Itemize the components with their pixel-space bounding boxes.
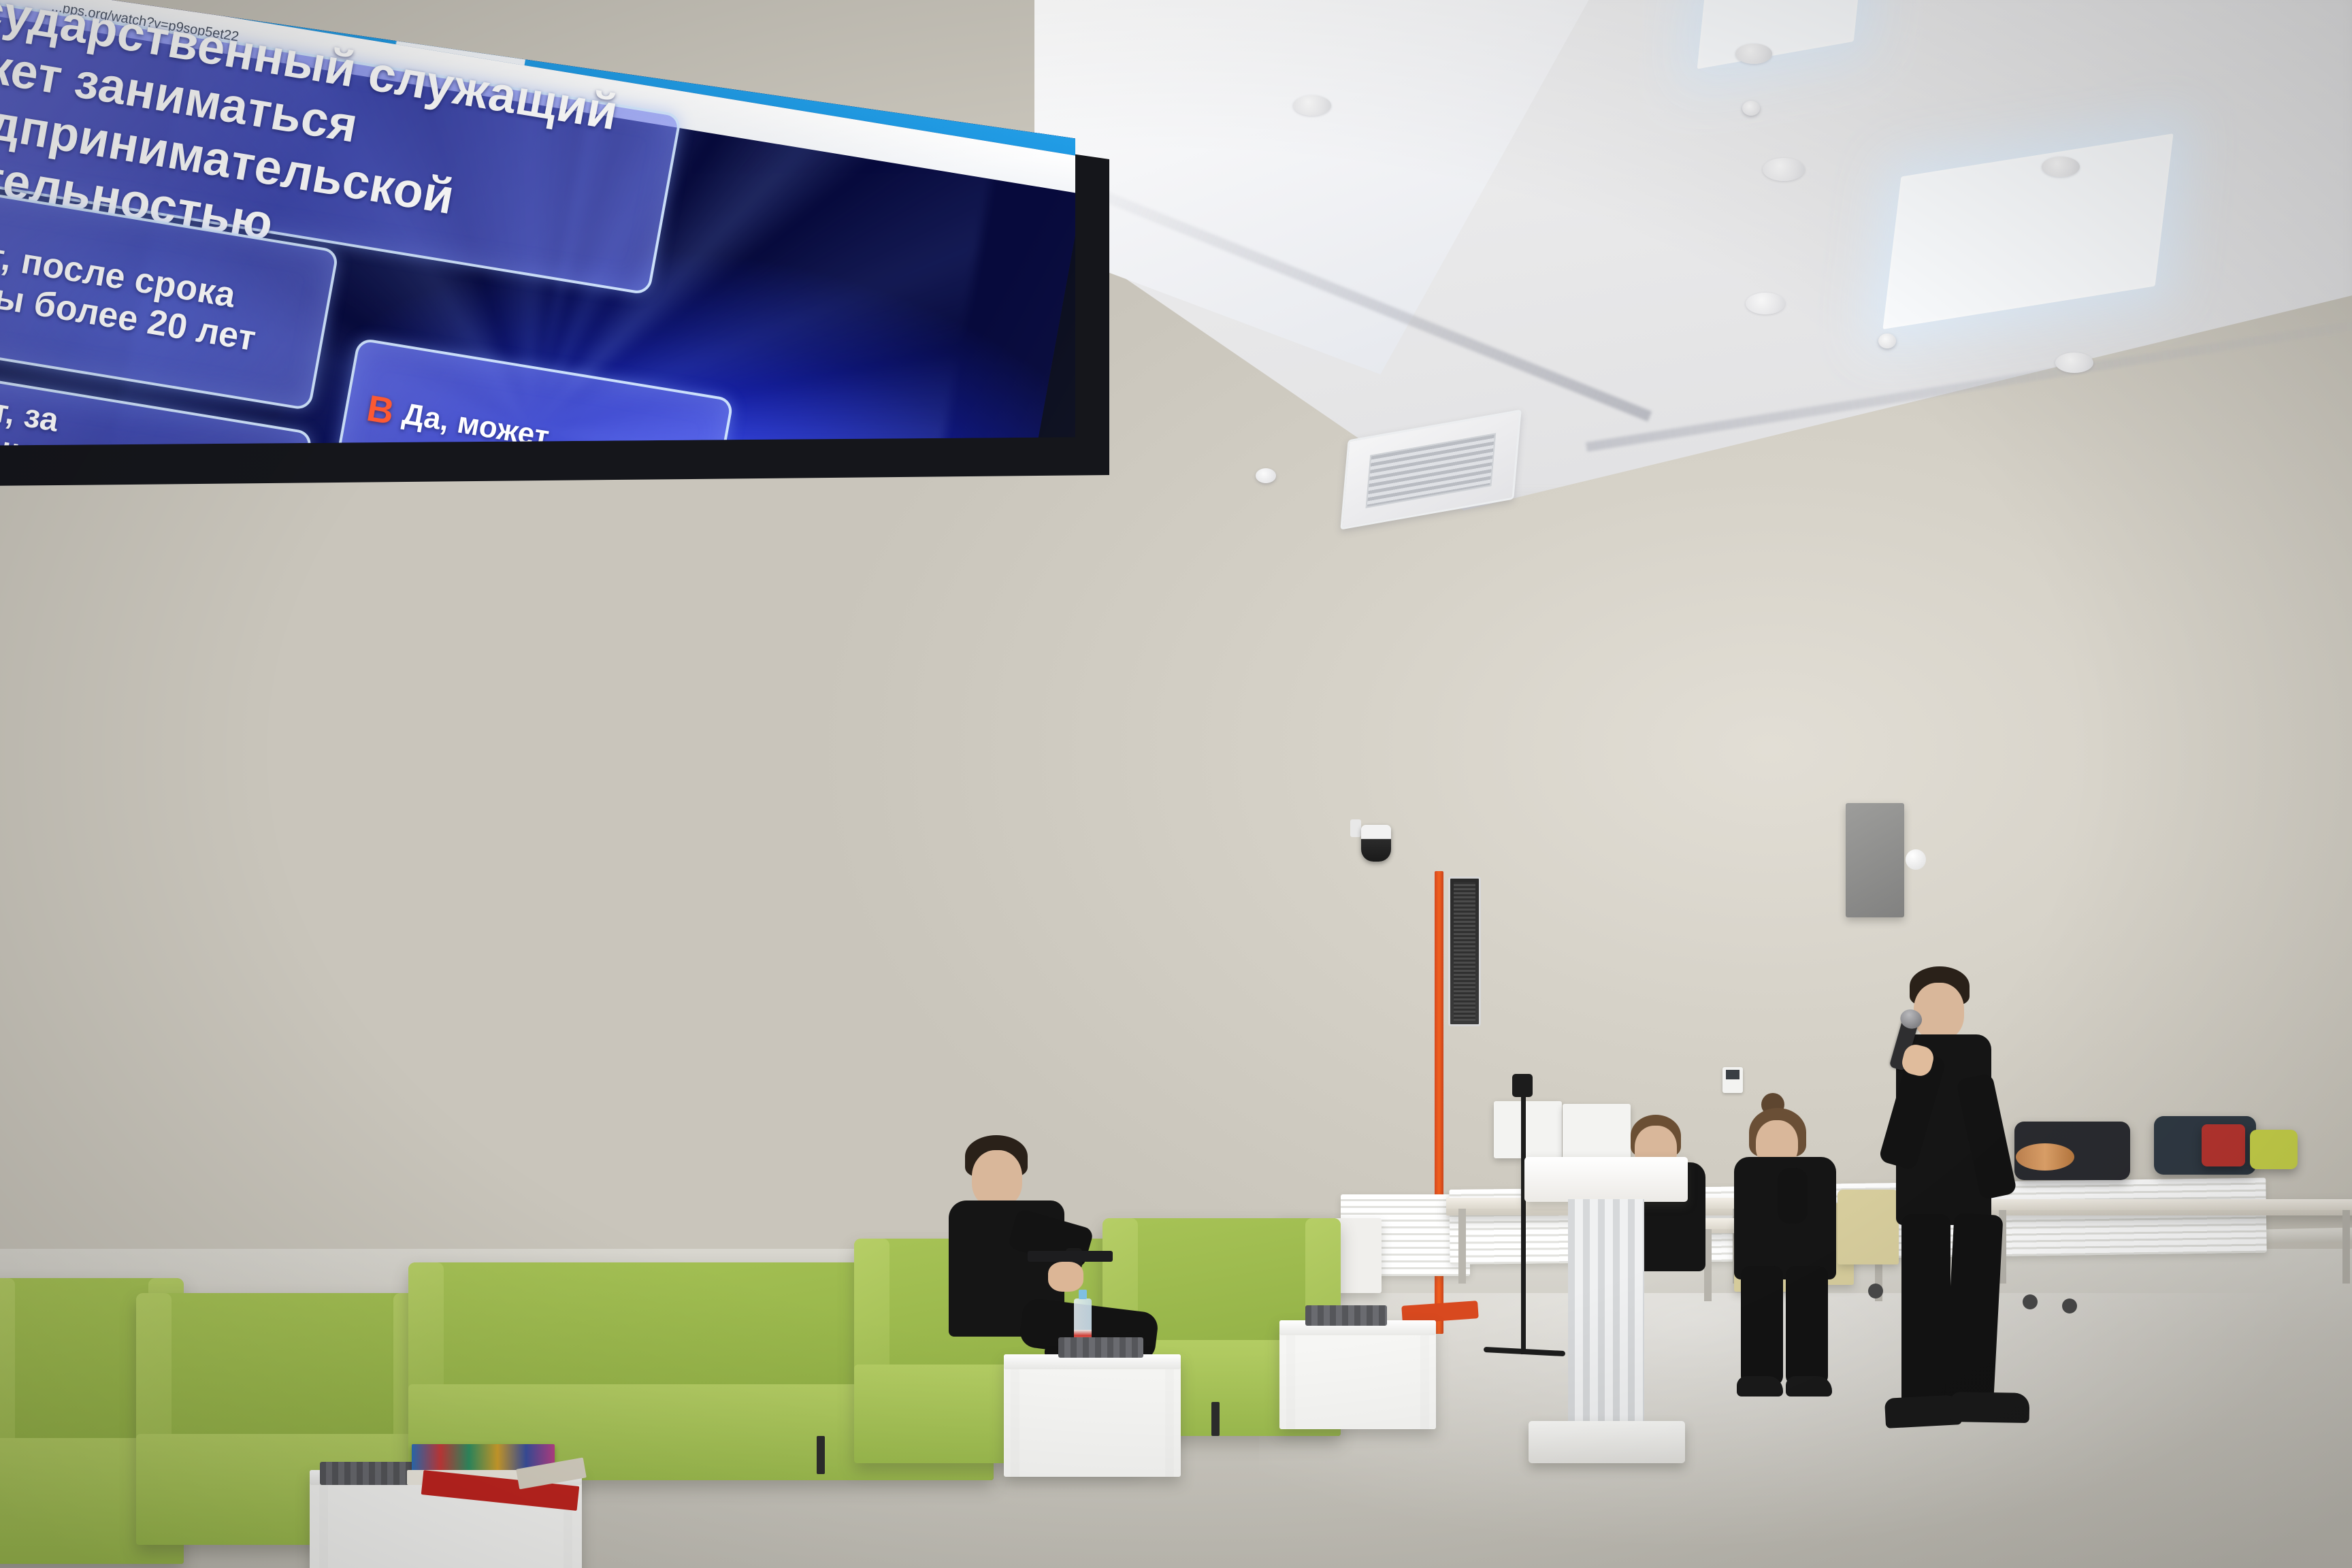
red-bag — [2202, 1124, 2245, 1166]
table-leg — [1286, 1335, 1295, 1429]
tab-close-icon[interactable]: × — [512, 36, 521, 50]
taskbar-clock[interactable]: 13:27 04.02.2022 — [1002, 1002, 1047, 1022]
security-camera-icon — [1361, 825, 1391, 862]
leg-left — [1901, 1214, 1950, 1411]
thermostat[interactable] — [1722, 1067, 1743, 1093]
option-text-d: Нет, не может — [365, 551, 572, 617]
tab-title: Новая вкладка — [425, 22, 508, 48]
taskbar-word-icon[interactable]: W — [33, 967, 69, 1003]
leg — [1741, 1266, 1783, 1386]
leg-right — [1944, 1213, 2003, 1412]
podium-top — [1524, 1157, 1688, 1202]
monitor — [1494, 1101, 1562, 1158]
tray-settings-icon[interactable]: ⚙ — [886, 1002, 897, 1015]
system-tray: ︿ ⚙ 🗔 🔊 🖥 РУС 13:27 04.02.2022 — [866, 998, 1047, 1022]
answer-option-b[interactable]: B Да, может — [333, 338, 734, 533]
foam-pad — [1058, 1337, 1143, 1358]
ceiling-spot-icon — [1746, 293, 1785, 314]
arm — [1778, 1168, 1808, 1224]
ceiling-spot-icon — [2042, 157, 2080, 177]
head — [972, 1150, 1022, 1207]
desk-leg — [2342, 1210, 2350, 1284]
smoke-detector-icon — [1878, 333, 1896, 348]
table-leg — [319, 1485, 328, 1568]
table-leg — [1165, 1369, 1174, 1477]
back-desk-3 — [1984, 1199, 2352, 1215]
windows-taskbar: 🗀 X W ▭ ⬤ P ︿ ⚙ 🗔 🔊 🖥 РУС 13:27 04.02.20… — [0, 954, 1075, 1034]
hand — [1048, 1262, 1083, 1292]
option-letter-b: B — [363, 387, 397, 433]
taskbar-app-icon[interactable]: ⬤ — [176, 971, 212, 1007]
leg — [1786, 1266, 1828, 1386]
camera-mount — [1350, 819, 1361, 837]
yellow-bag — [2250, 1130, 2298, 1169]
shoe-right — [1950, 1392, 2030, 1423]
option-letter-d: D — [329, 542, 363, 587]
tab-close-icon[interactable]: × — [383, 15, 392, 29]
tray-display-icon[interactable]: 🖥 — [948, 1003, 963, 1017]
desk-leg — [1458, 1209, 1466, 1284]
side-table-right — [1279, 1320, 1436, 1429]
taskbar-excel-icon[interactable]: X — [0, 966, 22, 1002]
mouse-cursor-icon — [380, 491, 390, 505]
podium-base — [1529, 1421, 1685, 1463]
tab-title: Внутренняя служба - — [116, 0, 224, 2]
remote-on-armrest[interactable] — [1028, 1251, 1113, 1262]
tab-title: Тимуровская команда - You… — [270, 0, 378, 27]
ceiling-spot-icon — [1735, 44, 1772, 64]
option-text-a: Может, после срока службы более 20 лет — [0, 220, 310, 366]
favicon-chrome-icon — [406, 19, 422, 35]
screen-surface[interactable]: ... × W Внутренняя служба - × Тимуровска… — [0, 0, 1075, 1034]
head — [1914, 983, 1964, 1040]
side-table-center — [1004, 1354, 1181, 1477]
shoe — [1786, 1376, 1832, 1396]
tray-chevron-icon[interactable]: ︿ — [866, 999, 879, 1016]
desk-top — [1984, 1199, 2352, 1210]
operator-right — [1734, 1102, 1850, 1395]
ceiling-spot-icon — [2055, 353, 2093, 373]
tab-close-icon[interactable]: × — [229, 0, 238, 4]
podium — [1545, 1157, 1667, 1463]
tray-language-indicator[interactable]: РУС — [971, 1004, 995, 1018]
ceiling-spot-icon — [1763, 158, 1805, 181]
chair-caster — [2062, 1298, 2077, 1313]
mic-stand — [1521, 1089, 1526, 1354]
light-panel-head — [1448, 877, 1481, 1026]
shoe — [1737, 1376, 1783, 1396]
clock-time: 13:27 — [1013, 1002, 1036, 1013]
taskbar-camera-icon[interactable]: ▭ — [80, 968, 116, 1004]
answer-option-d[interactable]: D Нет, не может — [299, 492, 699, 687]
smoke-detector-icon — [1742, 101, 1760, 116]
wall-fixture — [1906, 849, 1926, 870]
projection-screen: ... × W Внутренняя служба - × Тимуровска… — [0, 0, 1130, 1096]
ceiling-spot-icon — [1293, 95, 1331, 116]
podium-column — [1568, 1199, 1644, 1424]
table-leg — [1420, 1335, 1429, 1429]
sofa-leg — [817, 1436, 825, 1474]
tray-window-icon[interactable]: 🗔 — [905, 999, 918, 1019]
screenshot-root: ... × W Внутренняя служба - × Тимуровска… — [0, 0, 2352, 1568]
table-leg — [1011, 1369, 1019, 1477]
tray-volume-icon[interactable]: 🔊 — [926, 1002, 941, 1017]
smoke-detector-icon — [1256, 468, 1276, 483]
armchair-leg — [1211, 1402, 1220, 1436]
taskbar-powerpoint-icon[interactable]: P — [223, 973, 259, 1009]
wall-speaker-icon — [1846, 803, 1904, 917]
foam-pad — [1305, 1305, 1387, 1326]
taskbar-chrome-icon[interactable] — [128, 970, 164, 1006]
presenter — [1878, 966, 2035, 1463]
favicon-youtube-icon — [252, 0, 267, 9]
clock-date: 04.02.2022 — [1002, 1011, 1047, 1023]
